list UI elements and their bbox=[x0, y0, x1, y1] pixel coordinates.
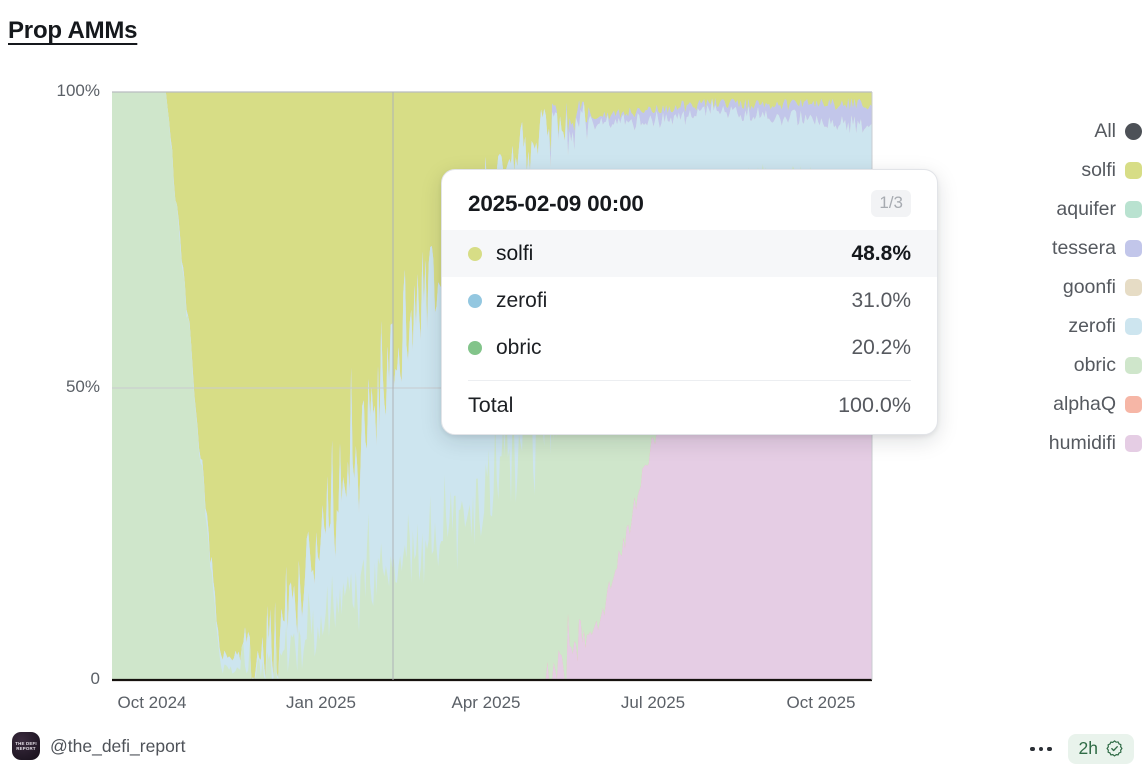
x-tick-oct-2025: Oct 2025 bbox=[787, 693, 856, 713]
tooltip-row-left: obric bbox=[468, 336, 542, 360]
legend-item-label: obric bbox=[1074, 354, 1116, 377]
legend-item-goonfi[interactable]: goonfi bbox=[1063, 268, 1142, 307]
legend-item-tessera[interactable]: tessera bbox=[1052, 229, 1142, 268]
legend-item-label: zerofi bbox=[1068, 315, 1116, 338]
chart-page: Prop AMMs 100% 50% 0 bbox=[0, 0, 1148, 782]
avatar: THE DEFI REPORT bbox=[12, 732, 40, 760]
tooltip-total-label: Total bbox=[468, 393, 513, 418]
series-dot-icon bbox=[468, 294, 482, 308]
legend-item-label: tessera bbox=[1052, 237, 1116, 260]
tooltip-row-value: 20.2% bbox=[851, 336, 911, 360]
x-tick-jan-2025: Jan 2025 bbox=[286, 693, 356, 713]
legend-item-zerofi[interactable]: zerofi bbox=[1068, 307, 1142, 346]
legend-item-label: aquifer bbox=[1056, 198, 1116, 221]
account-handle: @the_defi_report bbox=[50, 736, 186, 757]
legend-swatch-icon bbox=[1125, 123, 1142, 140]
legend-swatch-icon bbox=[1125, 435, 1142, 452]
tooltip-series-rows: solfi48.8%zerofi31.0%obric20.2% bbox=[442, 230, 937, 371]
verified-badge-icon bbox=[1105, 739, 1124, 758]
account-attribution[interactable]: THE DEFI REPORT @the_defi_report bbox=[12, 732, 186, 760]
legend-item-solfi[interactable]: solfi bbox=[1081, 151, 1142, 190]
avatar-text-line2: REPORT bbox=[16, 746, 36, 751]
tooltip-row-left: zerofi bbox=[468, 289, 547, 313]
footer-actions: 2h bbox=[1028, 734, 1134, 764]
series-dot-icon bbox=[468, 341, 482, 355]
tooltip-row-value: 48.8% bbox=[851, 242, 911, 266]
legend-item-aquifer[interactable]: aquifer bbox=[1056, 190, 1142, 229]
tooltip-date: 2025-02-09 00:00 bbox=[468, 191, 644, 217]
tooltip-row-zerofi: zerofi31.0% bbox=[442, 277, 937, 324]
x-tick-apr-2025: Apr 2025 bbox=[452, 693, 521, 713]
legend-swatch-icon bbox=[1125, 318, 1142, 335]
legend-swatch-icon bbox=[1125, 162, 1142, 179]
tooltip-divider bbox=[468, 380, 911, 381]
more-horizontal-icon[interactable] bbox=[1028, 741, 1054, 758]
page-title: Prop AMMs bbox=[8, 17, 137, 45]
tooltip-row-obric: obric20.2% bbox=[442, 324, 937, 371]
tooltip-row-solfi: solfi48.8% bbox=[442, 230, 937, 277]
tooltip-total-value: 100.0% bbox=[838, 393, 911, 418]
legend-swatch-icon bbox=[1125, 279, 1142, 296]
legend-item-label: All bbox=[1094, 120, 1116, 143]
freshness-badge[interactable]: 2h bbox=[1068, 734, 1134, 764]
tooltip-row-name: solfi bbox=[496, 242, 533, 266]
legend-swatch-icon bbox=[1125, 240, 1142, 257]
tooltip-page-counter: 1/3 bbox=[871, 190, 911, 217]
legend-swatch-icon bbox=[1125, 201, 1142, 218]
legend-item-label: solfi bbox=[1081, 159, 1116, 182]
y-tick-100: 100% bbox=[10, 81, 100, 101]
legend-item-all[interactable]: All bbox=[1094, 112, 1142, 151]
legend-item-label: humidifi bbox=[1049, 432, 1116, 455]
series-legend[interactable]: Allsolfiaquifertesseragoonfizerofiobrica… bbox=[1049, 112, 1142, 463]
chart-tooltip: 2025-02-09 00:00 1/3 solfi48.8%zerofi31.… bbox=[441, 169, 938, 435]
tooltip-total-row: Total 100.0% bbox=[442, 385, 937, 420]
tooltip-row-name: zerofi bbox=[496, 289, 547, 313]
legend-swatch-icon bbox=[1125, 396, 1142, 413]
x-axis: Oct 2024 Jan 2025 Apr 2025 Jul 2025 Oct … bbox=[0, 693, 900, 723]
tooltip-row-name: obric bbox=[496, 336, 542, 360]
y-axis: 100% 50% 0 bbox=[0, 68, 100, 688]
freshness-time: 2h bbox=[1079, 738, 1098, 759]
footer: THE DEFI REPORT @the_defi_report 2h bbox=[0, 724, 1148, 782]
legend-item-humidifi[interactable]: humidifi bbox=[1049, 424, 1142, 463]
legend-item-obric[interactable]: obric bbox=[1074, 346, 1142, 385]
legend-item-label: alphaQ bbox=[1053, 393, 1116, 416]
y-tick-50: 50% bbox=[10, 377, 100, 397]
x-tick-oct-2024: Oct 2024 bbox=[118, 693, 187, 713]
legend-item-label: goonfi bbox=[1063, 276, 1116, 299]
tooltip-header: 2025-02-09 00:00 1/3 bbox=[442, 180, 937, 230]
tooltip-row-value: 31.0% bbox=[851, 289, 911, 313]
legend-item-alphaq[interactable]: alphaQ bbox=[1053, 385, 1142, 424]
x-tick-jul-2025: Jul 2025 bbox=[621, 693, 685, 713]
series-dot-icon bbox=[468, 247, 482, 261]
tooltip-row-left: solfi bbox=[468, 242, 533, 266]
legend-swatch-icon bbox=[1125, 357, 1142, 374]
y-tick-0: 0 bbox=[10, 669, 100, 689]
